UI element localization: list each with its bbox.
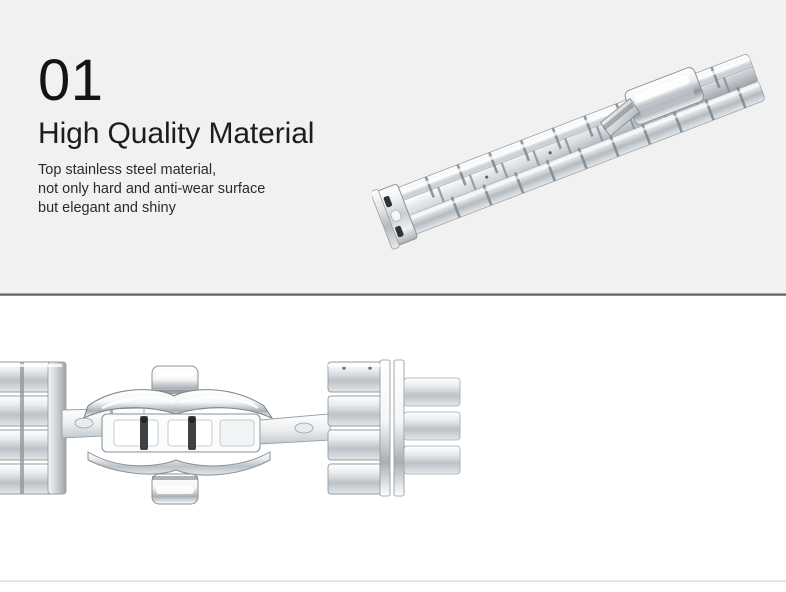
- body-line: but elegant and shiny: [38, 199, 314, 218]
- butterfly-clasp-image: [0, 348, 462, 538]
- feature-panel-01: 01 High Quality Material Top stainless s…: [0, 0, 786, 293]
- feature-panel-02: 02 Butterfly Clasp Butterfly clasp, nice…: [0, 296, 786, 580]
- feature-headline-01: High Quality Material: [38, 116, 314, 151]
- feature-text-01: 01 High Quality Material Top stainless s…: [38, 52, 314, 218]
- feature-number-01: 01: [38, 52, 314, 110]
- body-line: Top stainless steel material,: [38, 161, 314, 180]
- watch-band-image: [372, 24, 786, 270]
- feature-body-01: Top stainless steel material, not only h…: [38, 161, 314, 218]
- clasp-right-links: [260, 360, 460, 496]
- footer-strip: [0, 582, 786, 592]
- body-line: not only hard and anti-wear surface: [38, 180, 314, 199]
- butterfly-hinge: [84, 366, 272, 504]
- product-feature-page: 01 High Quality Material Top stainless s…: [0, 0, 786, 592]
